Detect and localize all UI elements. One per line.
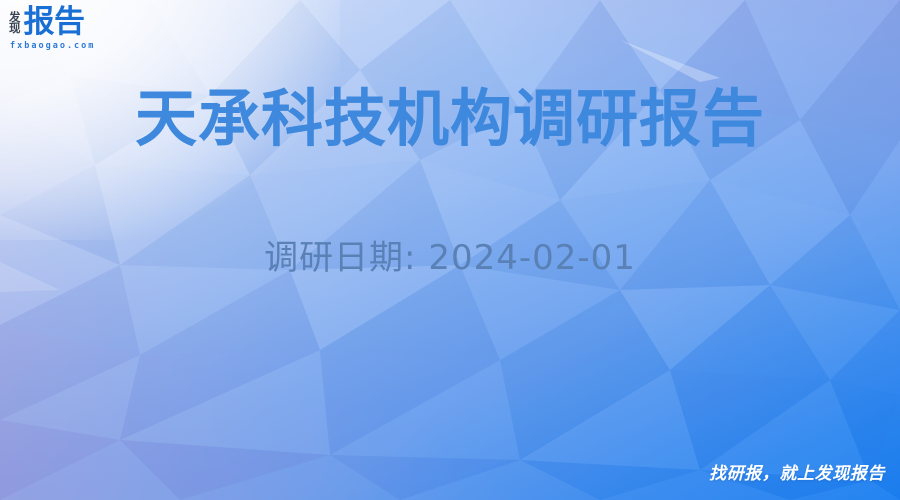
title-block: 天承科技机构调研报告 <box>0 84 900 153</box>
logo-stacked-chars: 发 现 <box>9 11 21 34</box>
fxbaogao-logo[interactable]: 发 现 报告 fxbaogao.com <box>9 7 95 51</box>
survey-date-subtitle: 调研日期: 2024-02-01 <box>0 230 900 279</box>
logo-wordmark-row: 发 现 报告 <box>9 7 85 38</box>
brand-slogan: 找研报，就上发现报告 <box>709 459 885 484</box>
logo-url: fxbaogao.com <box>10 41 95 51</box>
logo-char-xian: 现 <box>9 23 21 34</box>
page-title: 天承科技机构调研报告 <box>0 84 900 153</box>
logo-wordmark: 报告 <box>24 7 85 38</box>
report-cover-slide: 发 现 报告 fxbaogao.com 天承科技机构调研报告 调研日期: 202… <box>0 0 900 500</box>
